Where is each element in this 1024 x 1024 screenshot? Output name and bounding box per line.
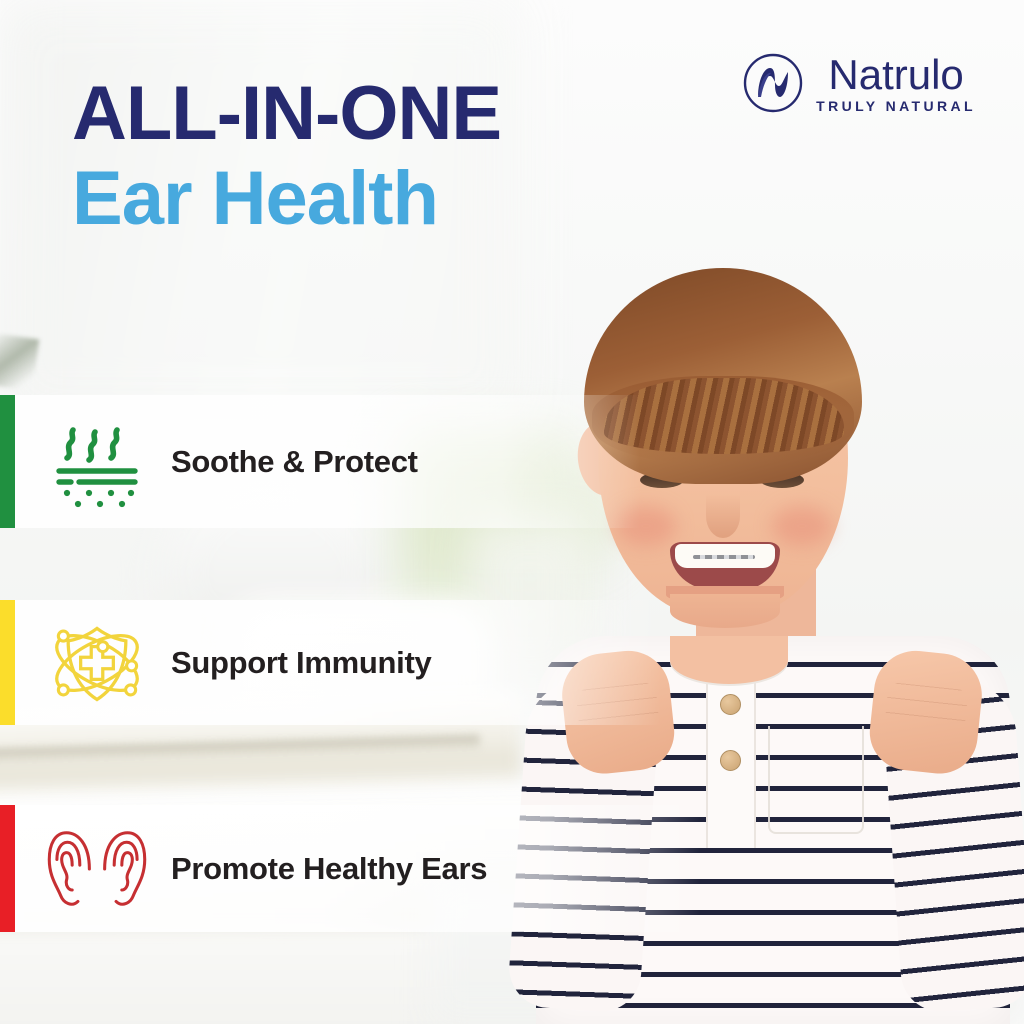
steam-vapor-icon [45, 414, 149, 510]
boy-fist-right [866, 647, 986, 778]
two-ears-icon [45, 827, 149, 911]
accent-bar-red [0, 805, 15, 932]
boy-chin [670, 594, 780, 628]
feature-card-body: Support Immunity [15, 600, 660, 725]
feature-card-body: Promote Healthy Ears [15, 805, 700, 932]
brand-tagline: TRULY NATURAL [816, 99, 976, 113]
feature-card-soothe[interactable]: Soothe & Protect [0, 395, 640, 528]
boy-nose [706, 494, 740, 538]
boy-shirt-pocket [768, 726, 864, 834]
feature-card-ears[interactable]: Promote Healthy Ears [0, 805, 700, 932]
promo-banner: ALL-IN-ONE Ear Health Natrulo TRULY NATU… [0, 0, 1024, 1024]
headline-line-1: ALL-IN-ONE [72, 76, 692, 152]
boy-cheek-right [772, 506, 832, 546]
feature-card-body: Soothe & Protect [15, 395, 640, 528]
boy-shirt-collar [670, 636, 788, 684]
accent-bar-green [0, 395, 15, 528]
headline-line-2: Ear Health [72, 158, 692, 240]
natrulo-n-circle-icon [742, 52, 804, 114]
atom-shield-plus-icon [45, 613, 149, 713]
boy-hair-fringe [604, 378, 844, 454]
brand-name: Natrulo [828, 54, 963, 96]
boy-teeth-braces [675, 544, 775, 568]
feature-card-immunity[interactable]: Support Immunity [0, 600, 660, 725]
feature-label: Soothe & Protect [171, 444, 418, 480]
feature-label: Support Immunity [171, 645, 431, 681]
boy-shirt-button-bottom [720, 750, 741, 771]
headline-block: ALL-IN-ONE Ear Health [72, 76, 692, 240]
feature-label: Promote Healthy Ears [171, 851, 487, 887]
accent-bar-yellow [0, 600, 15, 725]
brand-wordmark: Natrulo TRULY NATURAL [816, 54, 976, 113]
brand-logo: Natrulo TRULY NATURAL [742, 52, 976, 114]
boy-shirt-button-top [720, 694, 741, 715]
